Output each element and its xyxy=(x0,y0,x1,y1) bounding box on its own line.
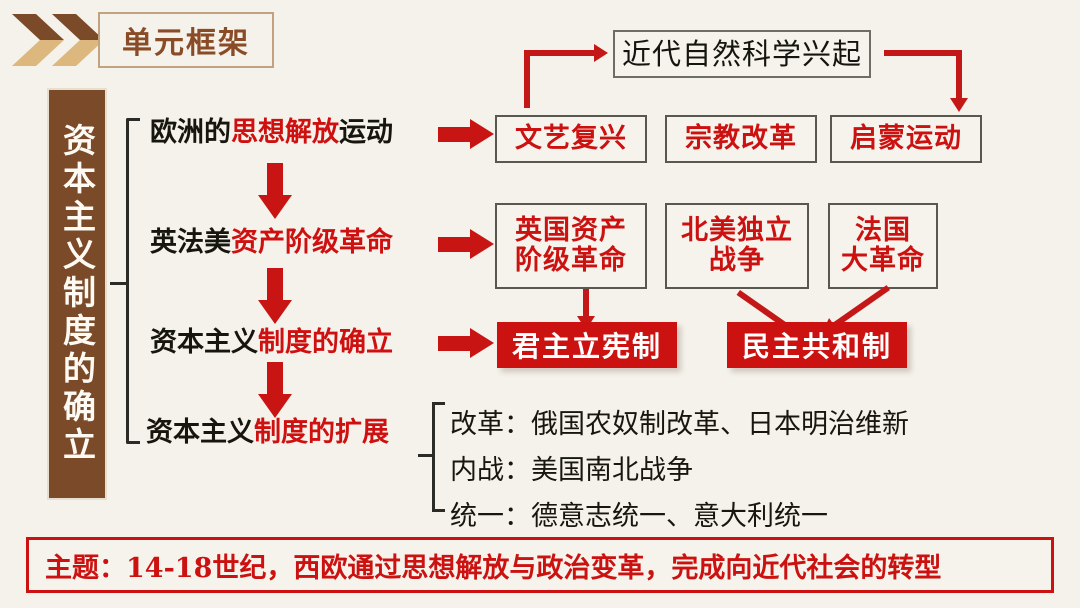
row2-box-1-line2: 阶级革命 xyxy=(515,246,627,276)
bracket-line xyxy=(126,118,129,444)
row1-box-1-label: 文艺复兴 xyxy=(515,124,627,154)
bracket-bottom-tip xyxy=(433,509,445,512)
theme-banner: 主题：14-18世纪，西欧通过思想解放与政治变革，完成向近代社会的转型 xyxy=(26,537,1054,593)
row2-box-2-line1: 北美独立 xyxy=(681,216,793,246)
expansion-item-3-label: 统一：德意志统一、意大利统一 xyxy=(450,501,828,532)
row1-box-reformation: 宗教改革 xyxy=(665,115,817,163)
science-box: 近代自然科学兴起 xyxy=(613,30,871,78)
expansion-bracket xyxy=(424,398,444,516)
row3-box-2-label: 民主共和制 xyxy=(742,325,892,365)
slide-canvas: 单元框架 资本主义制度的确立 欧洲的思想解放运动 英法美资产阶级革命 资本主义制… xyxy=(0,0,1080,608)
arrow-shaft xyxy=(267,268,283,302)
connector-horizontal xyxy=(524,50,596,56)
vertical-title-text: 资本主义制度的确立 xyxy=(61,123,94,465)
stage-arrow-2-to-3 xyxy=(258,268,292,324)
expansion-item-reform: 改革：俄国农奴制改革、日本明治维新 xyxy=(450,402,909,441)
stage-1-suffix: 运动 xyxy=(339,117,393,148)
arrow-shaft xyxy=(267,163,283,197)
bracket-top-tip xyxy=(433,402,445,405)
double-chevron-icon-svg xyxy=(8,8,108,72)
stage-1-prefix: 欧洲的 xyxy=(150,117,231,148)
arrow-head xyxy=(258,195,292,219)
row-arrow-1 xyxy=(438,119,494,149)
main-bracket xyxy=(118,112,140,450)
connector-vertical xyxy=(524,50,530,108)
stage-label-1: 欧洲的思想解放运动 xyxy=(150,110,393,149)
arrow-head xyxy=(470,119,494,149)
stage-3-highlight: 制度的确立 xyxy=(258,327,393,358)
row3-box-democratic-republic: 民主共和制 xyxy=(727,322,907,368)
stage-4-highlight: 制度的扩展 xyxy=(254,417,389,448)
row2-box-american-independence: 北美独立 战争 xyxy=(665,203,809,289)
arrow-shaft xyxy=(267,362,283,396)
row3-box-constitutional-monarchy: 君主立宪制 xyxy=(497,322,677,368)
stage-1-highlight: 思想解放 xyxy=(231,117,339,148)
stage-arrow-3-to-4 xyxy=(258,362,292,418)
arrow-head xyxy=(470,229,494,259)
arrow-shaft xyxy=(438,127,472,142)
double-chevron-icon xyxy=(8,8,108,72)
expansion-item-2-label: 内战：美国南北战争 xyxy=(450,455,693,486)
arrow-head xyxy=(258,300,292,324)
vertical-title-bar: 资本主义制度的确立 xyxy=(47,88,107,500)
row2-box-1-line1: 英国资产 xyxy=(515,216,627,246)
connector-horizontal xyxy=(884,50,962,56)
row3-box-1-label: 君主立宪制 xyxy=(512,325,662,365)
expansion-item-civilwar: 内战：美国南北战争 xyxy=(450,448,693,487)
stage-arrow-1-to-2 xyxy=(258,163,292,219)
row-arrow-2 xyxy=(438,229,494,259)
theme-banner-text: 主题：14-18世纪，西欧通过思想解放与政治变革，完成向近代社会的转型 xyxy=(29,546,941,585)
bracket-middle-tick xyxy=(418,454,433,457)
stage-label-3: 资本主义制度的确立 xyxy=(150,320,393,359)
expansion-item-unification: 统一：德意志统一、意大利统一 xyxy=(450,494,828,533)
connector-vertical xyxy=(956,50,962,102)
connector-arrowhead xyxy=(950,98,968,112)
unit-title-text: 单元框架 xyxy=(122,18,250,62)
row2-box-french-revolution: 法国 大革命 xyxy=(828,203,938,289)
expansion-item-1-label: 改革：俄国农奴制改革、日本明治维新 xyxy=(450,409,909,440)
stage-2-highlight: 资产阶级革命 xyxy=(231,227,393,258)
bracket-bottom-tip xyxy=(127,441,140,444)
connector-arrowhead xyxy=(594,44,608,62)
row2-box-english-revolution: 英国资产 阶级革命 xyxy=(495,203,647,289)
stage-3-prefix: 资本主义 xyxy=(150,327,258,358)
arrow-head xyxy=(470,328,494,358)
row2-box-2-line2: 战争 xyxy=(709,246,765,276)
bracket-line xyxy=(432,402,435,512)
row2-box-3-line2: 大革命 xyxy=(841,246,925,276)
row1-box-2-label: 宗教改革 xyxy=(685,124,797,154)
row1-box-renaissance: 文艺复兴 xyxy=(495,115,647,163)
unit-title-box: 单元框架 xyxy=(98,12,274,68)
row1-box-3-label: 启蒙运动 xyxy=(850,124,962,154)
row1-box-enlightenment: 启蒙运动 xyxy=(830,115,982,163)
bracket-top-tip xyxy=(127,118,140,121)
science-box-label: 近代自然科学兴起 xyxy=(622,38,862,70)
stage-4-prefix: 资本主义 xyxy=(146,417,254,448)
arrow-head xyxy=(258,394,292,418)
stage-label-2: 英法美资产阶级革命 xyxy=(150,220,393,259)
row-arrow-3 xyxy=(438,328,494,358)
arrow-shaft xyxy=(438,237,472,252)
arrow-shaft xyxy=(438,336,472,351)
row2-box-3-line1: 法国 xyxy=(855,216,911,246)
bracket-middle-tick xyxy=(110,282,127,285)
stage-2-prefix: 英法美 xyxy=(150,227,231,258)
